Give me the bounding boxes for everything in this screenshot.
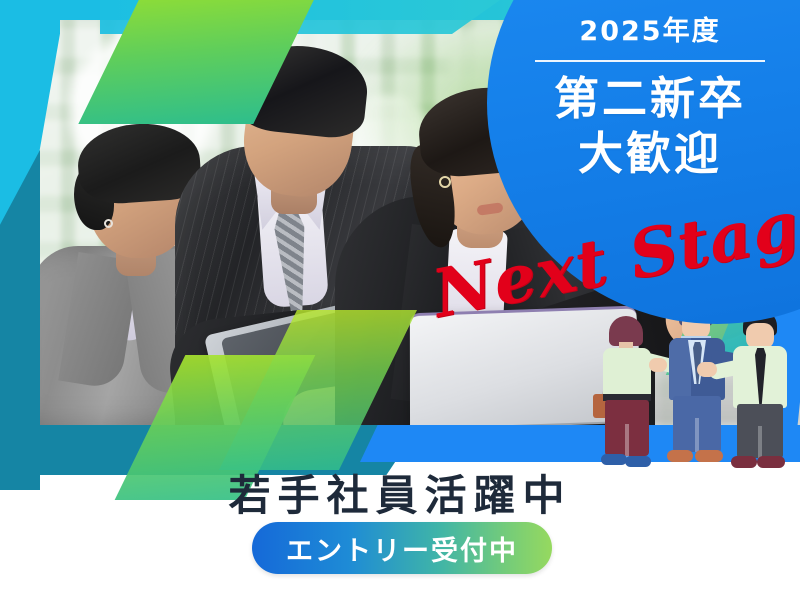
bottom-headline: 若手社員活躍中: [0, 462, 800, 523]
year-label: 2025年度: [500, 16, 800, 48]
figure-light-shirt: [725, 310, 797, 470]
headline-line-2: 大歓迎: [500, 127, 800, 182]
headline-block: 2025年度 第二新卒 大歓迎: [500, 16, 800, 182]
entry-cta-label: エントリー受付中: [286, 529, 518, 568]
entry-cta-button[interactable]: エントリー受付中: [252, 522, 552, 574]
illustrated-business-figures: [585, 300, 800, 465]
figure-navy-suit: [661, 300, 733, 465]
headline-line-1: 第二新卒: [500, 72, 800, 127]
recruitment-banner: 2025年度 第二新卒 大歓迎 Next Stage 若手社員活躍中 エントリー…: [0, 0, 800, 600]
figure-back-turned: [595, 316, 659, 466]
headline-divider: [535, 60, 765, 62]
